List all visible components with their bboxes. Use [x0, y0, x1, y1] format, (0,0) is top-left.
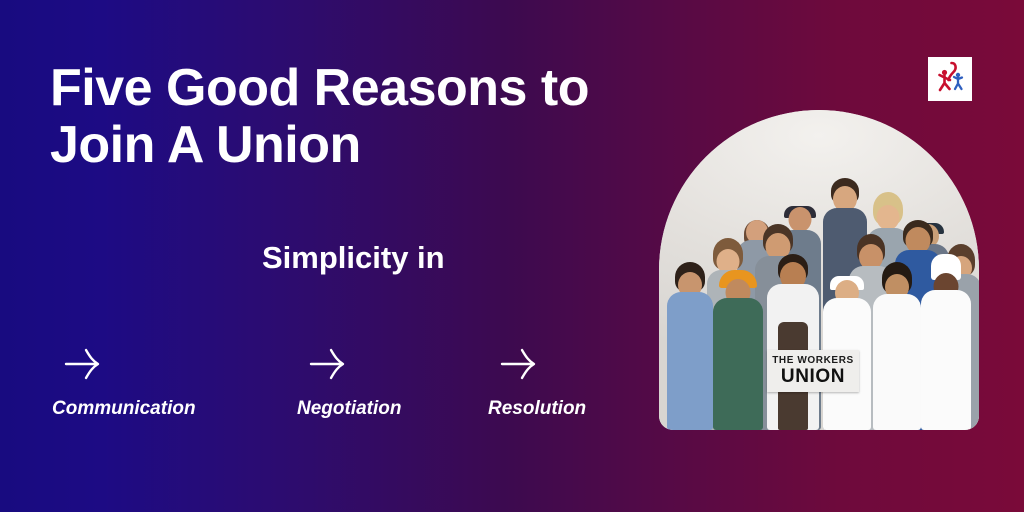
- person-figure: [873, 262, 921, 430]
- union-sign-line2: UNION: [781, 367, 845, 386]
- person-figure: [767, 254, 819, 430]
- page-title: Five Good Reasons to Join A Union: [50, 60, 690, 174]
- workers-photo: THE WORKERS UNION: [659, 110, 979, 430]
- step-item-negotiation: Negotiation: [297, 344, 402, 420]
- person-figure: [921, 250, 971, 430]
- union-sign-line1: THE WORKERS: [772, 356, 854, 366]
- step-item-resolution: Resolution: [488, 344, 586, 420]
- step-label: Resolution: [488, 398, 586, 420]
- step-label: Negotiation: [297, 398, 402, 420]
- step-item-communication: Communication: [52, 344, 196, 420]
- person-figure: [823, 266, 871, 430]
- person-figure: [713, 258, 763, 430]
- person-figure: [667, 264, 713, 430]
- brand-logo[interactable]: [928, 57, 972, 101]
- arrow-right-icon: [60, 344, 106, 384]
- union-banner: Five Good Reasons to Join A Union Simpli…: [0, 0, 1024, 512]
- union-people-logo-icon: [932, 60, 968, 99]
- subtitle: Simplicity in: [262, 240, 445, 276]
- arrow-right-icon: [496, 344, 542, 384]
- workers-photo-image: THE WORKERS UNION: [659, 110, 979, 430]
- union-sign: THE WORKERS UNION: [767, 350, 859, 392]
- step-label: Communication: [52, 398, 196, 420]
- arrow-right-icon: [305, 344, 351, 384]
